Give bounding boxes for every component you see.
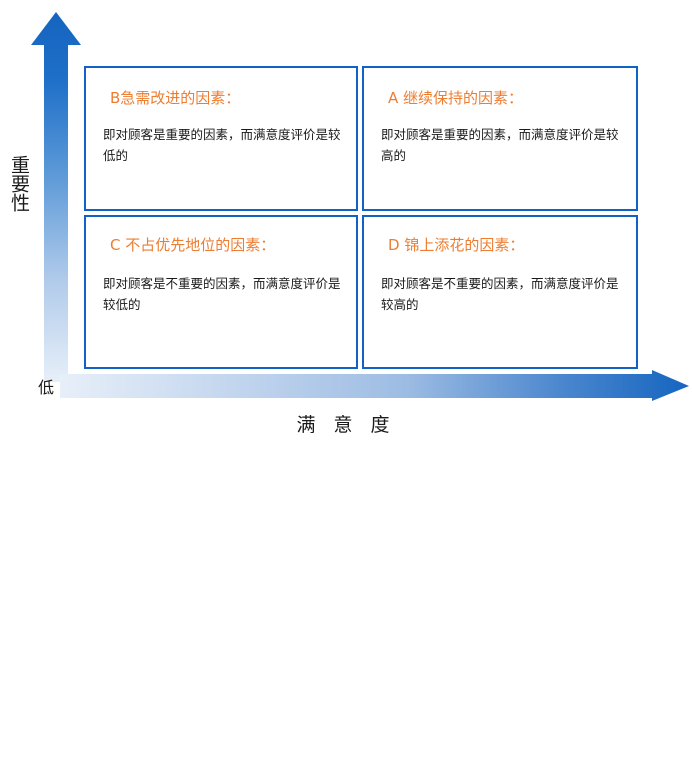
quadrant-d: D 锦上添花的因素： 即对顾客是不重要的因素，而满意度评价是较高的 [362,215,638,369]
vertical-axis-title: 重要性 [8,155,38,212]
quadrant-c-title: C 不占优先地位的因素： [110,235,348,255]
quadrant-b-title: B急需改进的因素： [110,88,348,108]
quadrant-d-title: D 锦上添花的因素： [388,235,628,255]
quadrant-a-title: A 继续保持的因素： [388,88,628,108]
quadrant-d-body: 即对顾客是不重要的因素，而满意度评价是较高的 [381,273,624,315]
quadrant-c-body: 即对顾客是不重要的因素，而满意度评价是较低的 [103,273,344,315]
quadrant-matrix-diagram: 得分高 重要性 低 得分高 满 意 度 B急需改进的因素： 即对顾客是重要的因素… [0,0,692,446]
horizontal-axis-title: 满 意 度 [0,410,692,437]
quadrant-a-body: 即对顾客是重要的因素，而满意度评价是较高的 [381,124,624,166]
horizontal-axis-arrow: 得分高 [60,370,690,402]
axis-low-label: 低 [38,378,54,398]
horizontal-arrow-shape [60,370,690,402]
horizontal-arrow-label: 得分高 [650,745,688,761]
quadrant-a: A 继续保持的因素： 即对顾客是重要的因素，而满意度评价是较高的 [362,66,638,211]
quadrant-c: C 不占优先地位的因素： 即对顾客是不重要的因素，而满意度评价是较低的 [84,215,358,369]
quadrant-b-body: 即对顾客是重要的因素，而满意度评价是较低的 [103,124,344,166]
quadrant-b: B急需改进的因素： 即对顾客是重要的因素，而满意度评价是较低的 [84,66,358,211]
